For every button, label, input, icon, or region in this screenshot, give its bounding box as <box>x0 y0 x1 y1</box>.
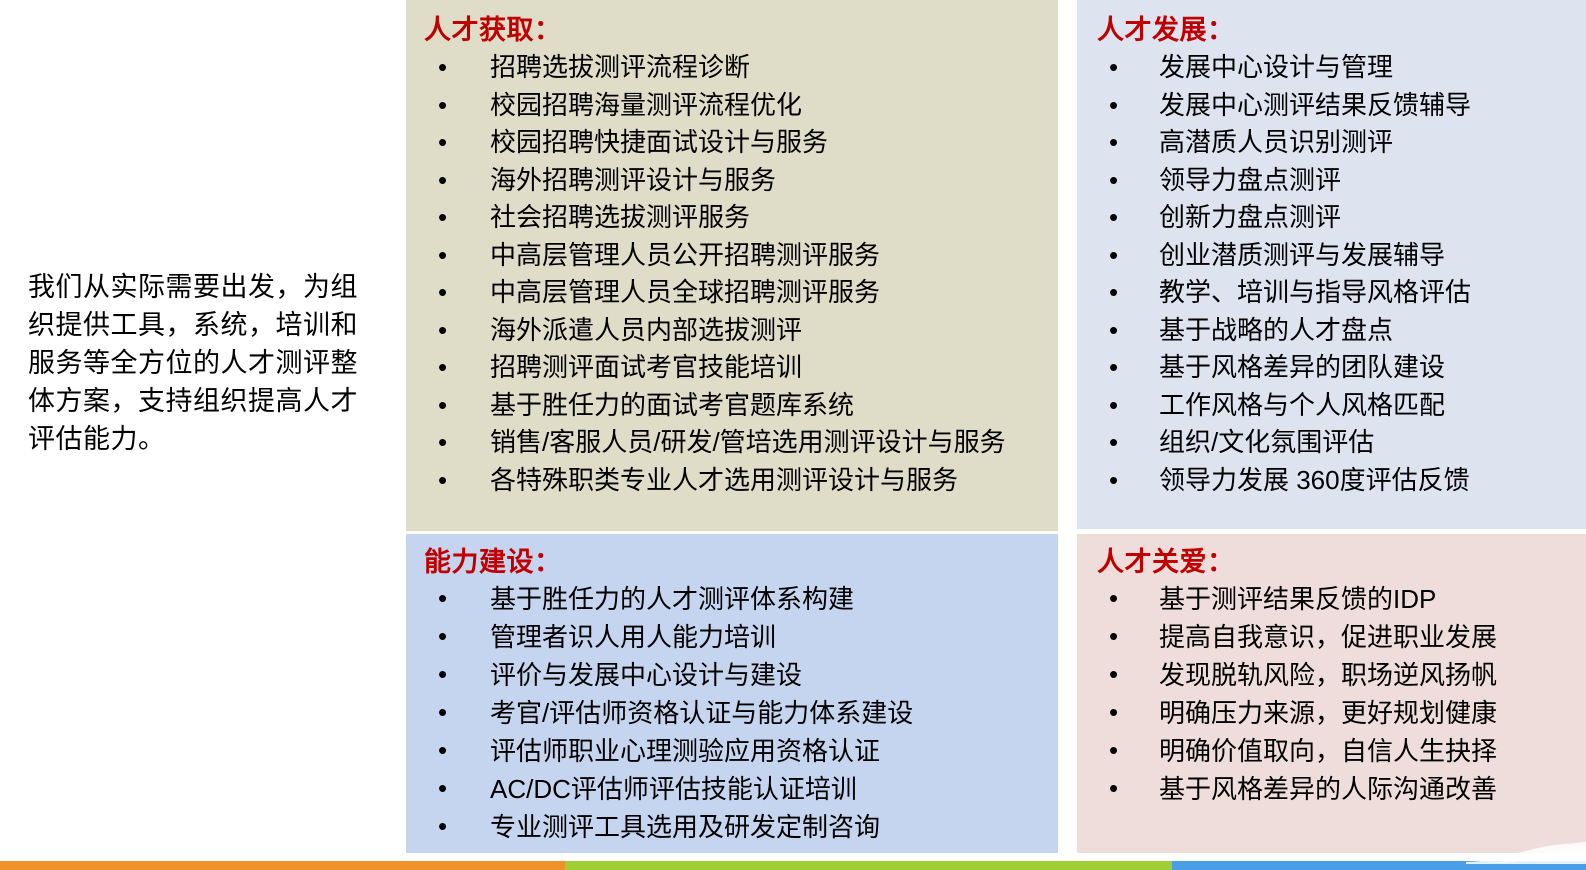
bullet-dot-icon: • <box>1109 656 1118 694</box>
bullet-item-label: 社会招聘选拔测评服务 <box>490 202 750 232</box>
bullet-list-capability-building: •基于胜任力的人才测评体系构建•管理者识人用人能力培训•评价与发展中心设计与建设… <box>424 580 1058 846</box>
bullet-item: •各特殊职类专业人才选用测评设计与服务 <box>424 462 1058 500</box>
bullet-item-label: 发展中心设计与管理 <box>1159 52 1393 82</box>
bullet-dot-icon: • <box>438 237 447 275</box>
panel-title-talent-acquisition: 人才获取： <box>424 14 1058 46</box>
bullet-item-label: 发现脱轨风险，职场逆风扬帆 <box>1159 660 1497 690</box>
bullet-dot-icon: • <box>438 656 447 694</box>
bullet-item-label: 基于胜任力的人才测评体系构建 <box>490 584 854 614</box>
bullet-item-label: 创业潜质测评与发展辅导 <box>1159 240 1445 270</box>
bullet-list-talent-acquisition: •招聘选拔测评流程诊断•校园招聘海量测评流程优化•校园招聘快捷面试设计与服务•海… <box>424 49 1058 499</box>
bullet-item: •教学、培训与指导风格评估 <box>1097 274 1586 312</box>
bullet-item-label: 明确压力来源，更好规划健康 <box>1159 698 1497 728</box>
bullet-item-label: 教学、培训与指导风格评估 <box>1159 277 1471 307</box>
bottom-decorative-bar <box>0 861 1586 870</box>
bullet-dot-icon: • <box>1109 49 1118 87</box>
bullet-dot-icon: • <box>1109 274 1118 312</box>
bullet-item: •考官/评估师资格认证与能力体系建设 <box>424 694 1058 732</box>
panel-capability-building: 能力建设： •基于胜任力的人才测评体系构建•管理者识人用人能力培训•评价与发展中… <box>406 534 1058 853</box>
bullet-item: •管理者识人用人能力培训 <box>424 618 1058 656</box>
bullet-item: •创业潜质测评与发展辅导 <box>1097 237 1586 275</box>
panel-talent-care: 人才关爱： •基于测评结果反馈的IDP•提高自我意识，促进职业发展•发现脱轨风险… <box>1077 534 1586 853</box>
bullet-item-label: 管理者识人用人能力培训 <box>490 622 776 652</box>
bullet-item-label: 组织/文化氛围评估 <box>1159 427 1374 457</box>
bullet-item: •专业测评工具选用及研发定制咨询 <box>424 808 1058 846</box>
bullet-item: •基于风格差异的团队建设 <box>1097 349 1586 387</box>
bullet-item: •招聘选拔测评流程诊断 <box>424 49 1058 87</box>
bullet-dot-icon: • <box>1109 237 1118 275</box>
bullet-item-label: 发展中心测评结果反馈辅导 <box>1159 90 1471 120</box>
bullet-item: •AC/DC评估师评估技能认证培训 <box>424 770 1058 808</box>
bar-segment-orange <box>0 861 565 870</box>
bullet-dot-icon: • <box>438 162 447 200</box>
bullet-item-label: 领导力盘点测评 <box>1159 165 1341 195</box>
bullet-dot-icon: • <box>1109 312 1118 350</box>
bullet-item-label: 基于战略的人才盘点 <box>1159 315 1393 345</box>
bullet-item: •组织/文化氛围评估 <box>1097 424 1586 462</box>
bullet-item-label: 招聘选拔测评流程诊断 <box>490 52 750 82</box>
bullet-item: •领导力发展 360度评估反馈 <box>1097 462 1586 500</box>
bullet-dot-icon: • <box>438 808 447 846</box>
bullet-item-label: 各特殊职类专业人才选用测评设计与服务 <box>490 465 958 495</box>
bullet-item: •高潜质人员识别测评 <box>1097 124 1586 162</box>
bullet-item-label: 招聘测评面试考官技能培训 <box>490 352 802 382</box>
bullet-item-label: 领导力发展 360度评估反馈 <box>1159 465 1470 495</box>
bullet-item-label: 工作风格与个人风格匹配 <box>1159 390 1445 420</box>
bullet-item-label: 考官/评估师资格认证与能力体系建设 <box>490 698 913 728</box>
bullet-dot-icon: • <box>1109 618 1118 656</box>
bullet-dot-icon: • <box>1109 387 1118 425</box>
bullet-item: •基于风格差异的人际沟通改善 <box>1097 770 1586 808</box>
panel-title-talent-development: 人才发展： <box>1097 14 1586 46</box>
panel-talent-acquisition: 人才获取： •招聘选拔测评流程诊断•校园招聘海量测评流程优化•校园招聘快捷面试设… <box>406 0 1058 531</box>
bar-segment-blue <box>1172 861 1586 870</box>
bullet-item: •发现脱轨风险，职场逆风扬帆 <box>1097 656 1586 694</box>
bullet-item-label: 销售/客服人员/研发/管培选用测评设计与服务 <box>490 427 1006 457</box>
bullet-dot-icon: • <box>438 49 447 87</box>
bullet-item: •领导力盘点测评 <box>1097 162 1586 200</box>
bullet-dot-icon: • <box>1109 580 1118 618</box>
bullet-item-label: 专业测评工具选用及研发定制咨询 <box>490 812 880 842</box>
bullet-item: •评估师职业心理测验应用资格认证 <box>424 732 1058 770</box>
bullet-item: •基于胜任力的人才测评体系构建 <box>424 580 1058 618</box>
bullet-item: •招聘测评面试考官技能培训 <box>424 349 1058 387</box>
bullet-dot-icon: • <box>438 580 447 618</box>
bullet-item-label: 校园招聘快捷面试设计与服务 <box>490 127 828 157</box>
bullet-dot-icon: • <box>438 770 447 808</box>
bullet-item: •中高层管理人员全球招聘测评服务 <box>424 274 1058 312</box>
bullet-item: •海外招聘测评设计与服务 <box>424 162 1058 200</box>
bullet-item-label: 基于风格差异的团队建设 <box>1159 352 1445 382</box>
bullet-item: •校园招聘快捷面试设计与服务 <box>424 124 1058 162</box>
intro-paragraph: 我们从实际需要出发，为组织提供工具，系统，培训和服务等全方位的人才测评整体方案，… <box>28 268 384 458</box>
bullet-item: •销售/客服人员/研发/管培选用测评设计与服务 <box>424 424 1058 462</box>
bullet-dot-icon: • <box>1109 87 1118 125</box>
bullet-dot-icon: • <box>438 732 447 770</box>
bullet-dot-icon: • <box>438 618 447 656</box>
bullet-dot-icon: • <box>438 312 447 350</box>
bullet-dot-icon: • <box>1109 694 1118 732</box>
bullet-item: •明确价值取向，自信人生抉择 <box>1097 732 1586 770</box>
panel-title-talent-care: 人才关爱： <box>1097 546 1586 578</box>
bullet-dot-icon: • <box>1109 424 1118 462</box>
bullet-item-label: 校园招聘海量测评流程优化 <box>490 90 802 120</box>
bullet-item: •海外派遣人员内部选拔测评 <box>424 312 1058 350</box>
bullet-list-talent-development: •发展中心设计与管理•发展中心测评结果反馈辅导•高潜质人员识别测评•领导力盘点测… <box>1097 49 1586 499</box>
bullet-item: •基于战略的人才盘点 <box>1097 312 1586 350</box>
bullet-item-label: 评估师职业心理测验应用资格认证 <box>490 736 880 766</box>
bullet-item-label: 基于风格差异的人际沟通改善 <box>1159 774 1497 804</box>
bullet-item: •基于胜任力的面试考官题库系统 <box>424 387 1058 425</box>
bullet-dot-icon: • <box>1109 124 1118 162</box>
bullet-item-label: AC/DC评估师评估技能认证培训 <box>490 774 857 804</box>
bullet-item: •评价与发展中心设计与建设 <box>424 656 1058 694</box>
bullet-dot-icon: • <box>1109 199 1118 237</box>
bullet-item-label: 基于测评结果反馈的IDP <box>1159 584 1436 614</box>
bullet-item-label: 评价与发展中心设计与建设 <box>490 660 802 690</box>
bullet-dot-icon: • <box>438 694 447 732</box>
bullet-dot-icon: • <box>438 462 447 500</box>
bullet-item-label: 海外派遣人员内部选拔测评 <box>490 315 802 345</box>
bullet-item: •中高层管理人员公开招聘测评服务 <box>424 237 1058 275</box>
bullet-dot-icon: • <box>438 274 447 312</box>
bar-segment-green <box>565 861 1172 870</box>
bullet-dot-icon: • <box>438 424 447 462</box>
bullet-item: •发展中心测评结果反馈辅导 <box>1097 87 1586 125</box>
bullet-item-label: 高潜质人员识别测评 <box>1159 127 1393 157</box>
bullet-list-talent-care: •基于测评结果反馈的IDP•提高自我意识，促进职业发展•发现脱轨风险，职场逆风扬… <box>1097 580 1586 808</box>
bullet-dot-icon: • <box>1109 732 1118 770</box>
bullet-item-label: 海外招聘测评设计与服务 <box>490 165 776 195</box>
bullet-item: •提高自我意识，促进职业发展 <box>1097 618 1586 656</box>
bullet-dot-icon: • <box>438 349 447 387</box>
bullet-item-label: 中高层管理人员全球招聘测评服务 <box>490 277 880 307</box>
bullet-item: •社会招聘选拔测评服务 <box>424 199 1058 237</box>
bullet-dot-icon: • <box>438 87 447 125</box>
bullet-item: •基于测评结果反馈的IDP <box>1097 580 1586 618</box>
bullet-dot-icon: • <box>1109 462 1118 500</box>
bullet-item-label: 中高层管理人员公开招聘测评服务 <box>490 240 880 270</box>
bullet-dot-icon: • <box>1109 349 1118 387</box>
bullet-item: •发展中心设计与管理 <box>1097 49 1586 87</box>
panel-title-capability-building: 能力建设： <box>424 546 1058 578</box>
bullet-item: •创新力盘点测评 <box>1097 199 1586 237</box>
bullet-dot-icon: • <box>1109 162 1118 200</box>
bullet-item: •工作风格与个人风格匹配 <box>1097 387 1586 425</box>
bullet-item: •校园招聘海量测评流程优化 <box>424 87 1058 125</box>
bullet-dot-icon: • <box>438 387 447 425</box>
bullet-item: •明确压力来源，更好规划健康 <box>1097 694 1586 732</box>
bullet-dot-icon: • <box>1109 770 1118 808</box>
bullet-dot-icon: • <box>438 124 447 162</box>
panel-talent-development: 人才发展： •发展中心设计与管理•发展中心测评结果反馈辅导•高潜质人员识别测评•… <box>1077 0 1586 529</box>
bullet-item-label: 基于胜任力的面试考官题库系统 <box>490 390 854 420</box>
bullet-item-label: 提高自我意识，促进职业发展 <box>1159 622 1497 652</box>
bullet-item-label: 创新力盘点测评 <box>1159 202 1341 232</box>
bullet-item-label: 明确价值取向，自信人生抉择 <box>1159 736 1497 766</box>
bullet-dot-icon: • <box>438 199 447 237</box>
